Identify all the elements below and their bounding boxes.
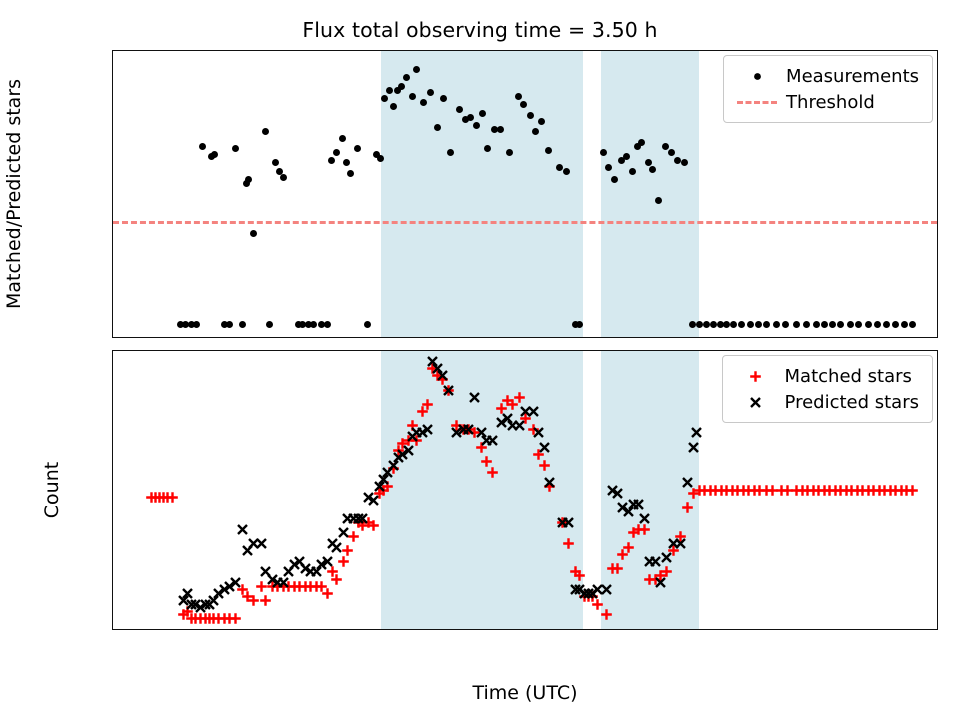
data-point-matched-stars xyxy=(622,541,635,554)
top-panel-axes: 0.000.250.500.751.001.25 MeasurementsThr… xyxy=(112,50,938,338)
data-point-measurements xyxy=(339,135,346,142)
x-tick-mark xyxy=(140,337,141,338)
y-tick-mark xyxy=(112,66,113,67)
data-point-matched-stars xyxy=(513,391,526,404)
x-tick-mark xyxy=(552,337,553,338)
y-tick-mark xyxy=(112,117,113,118)
data-point-measurements xyxy=(730,321,737,328)
data-point-measurements xyxy=(837,321,844,328)
top-legend-entry[interactable]: Measurements xyxy=(734,63,919,89)
data-point-predicted-stars xyxy=(356,512,369,525)
data-point-predicted-stars xyxy=(654,576,667,589)
data-point-predicted-stars xyxy=(562,516,575,529)
data-point-predicted-stars xyxy=(690,426,703,439)
data-point-measurements xyxy=(538,118,545,125)
x-tick-mark xyxy=(305,629,306,630)
data-point-matched-stars xyxy=(247,594,260,607)
x-tick-mark xyxy=(635,629,636,630)
data-point-measurements xyxy=(545,147,552,154)
data-point-measurements xyxy=(527,112,534,119)
data-point-measurements xyxy=(803,321,810,328)
data-point-predicted-stars xyxy=(402,444,415,457)
threshold-line xyxy=(113,221,937,224)
data-point-predicted-stars xyxy=(538,441,551,454)
data-point-predicted-stars xyxy=(632,498,645,511)
dot-icon xyxy=(734,70,780,83)
x-tick-mark xyxy=(635,337,636,338)
data-point-predicted-stars xyxy=(255,537,268,550)
data-point-measurements xyxy=(199,143,206,150)
x-tick-mark xyxy=(470,629,471,630)
data-point-measurements xyxy=(605,164,612,171)
data-point-predicted-stars xyxy=(330,541,343,554)
x-tick-mark xyxy=(552,629,553,630)
data-point-measurements xyxy=(324,321,331,328)
data-point-predicted-stars xyxy=(687,441,700,454)
data-point-matched-stars xyxy=(573,569,586,582)
data-point-measurements xyxy=(710,321,717,328)
data-point-measurements xyxy=(427,89,434,96)
top-legend-label: Threshold xyxy=(780,92,875,113)
data-point-measurements xyxy=(262,128,269,135)
data-point-predicted-stars xyxy=(486,434,499,447)
data-point-matched-stars xyxy=(600,608,613,621)
x-tick-mark xyxy=(388,629,389,630)
data-point-measurements xyxy=(354,145,361,152)
x-axis-label: Time (UTC) xyxy=(472,682,577,704)
data-point-measurements xyxy=(434,124,441,131)
data-point-predicted-stars xyxy=(527,405,540,418)
data-point-matched-stars xyxy=(166,491,179,504)
data-point-measurements xyxy=(467,114,474,121)
x-tick-mark xyxy=(882,337,883,338)
data-point-predicted-stars xyxy=(543,476,556,489)
data-point-measurements xyxy=(364,321,371,328)
data-point-matched-stars xyxy=(486,466,499,479)
data-point-measurements xyxy=(479,110,486,117)
data-point-matched-stars xyxy=(321,587,334,600)
data-point-measurements xyxy=(266,321,273,328)
dashed-line-icon xyxy=(734,101,780,104)
data-point-matched-stars xyxy=(611,562,624,575)
x-tick-mark xyxy=(140,629,141,630)
data-point-predicted-stars xyxy=(674,537,687,550)
x-tick-mark xyxy=(470,337,471,338)
data-point-predicted-stars xyxy=(660,551,673,564)
data-point-predicted-stars xyxy=(442,384,455,397)
data-point-measurements xyxy=(211,151,218,158)
x-tick-mark xyxy=(717,337,718,338)
x-tick-mark xyxy=(388,337,389,338)
data-point-predicted-stars xyxy=(468,391,481,404)
data-point-measurements xyxy=(347,170,354,177)
plus-icon xyxy=(733,370,779,383)
data-point-matched-stars xyxy=(681,501,694,514)
data-point-measurements xyxy=(662,143,669,150)
data-point-matched-stars xyxy=(421,398,434,411)
data-point-measurements xyxy=(497,126,504,133)
data-point-measurements xyxy=(829,321,836,328)
data-point-measurements xyxy=(250,230,257,237)
data-point-measurements xyxy=(456,106,463,113)
y-tick-mark xyxy=(112,547,113,548)
data-point-predicted-stars xyxy=(367,494,380,507)
y-tick-mark xyxy=(112,169,113,170)
data-point-matched-stars xyxy=(259,594,272,607)
cross-icon xyxy=(733,396,779,409)
bottom-panel-y-axis-label: Count xyxy=(41,462,63,518)
data-point-measurements xyxy=(901,321,908,328)
data-point-measurements xyxy=(847,321,854,328)
data-point-measurements xyxy=(611,176,618,183)
data-point-measurements xyxy=(755,321,762,328)
data-point-predicted-stars xyxy=(638,512,651,525)
data-point-measurements xyxy=(821,321,828,328)
figure-title: Flux total observing time = 3.50 h xyxy=(0,18,960,42)
data-point-measurements xyxy=(328,157,335,164)
data-point-predicted-stars xyxy=(321,555,334,568)
data-point-predicted-stars xyxy=(600,583,613,596)
data-point-measurements xyxy=(272,159,279,166)
data-point-measurements xyxy=(556,164,563,171)
y-tick-mark xyxy=(112,618,113,619)
data-point-measurements xyxy=(747,321,754,328)
bottom-legend-label: Matched stars xyxy=(779,366,912,387)
data-point-measurements xyxy=(793,321,800,328)
x-tick-mark xyxy=(223,337,224,338)
data-point-measurements xyxy=(333,149,340,156)
data-point-predicted-stars xyxy=(236,523,249,536)
top-legend-entry[interactable]: Threshold xyxy=(734,89,919,115)
top-panel-legend: MeasurementsThreshold xyxy=(723,55,933,123)
data-point-measurements xyxy=(703,321,710,328)
x-tick-mark xyxy=(305,337,306,338)
data-point-measurements xyxy=(226,321,233,328)
data-point-measurements xyxy=(855,321,862,328)
x-tick-mark xyxy=(800,337,801,338)
data-point-measurements xyxy=(638,139,645,146)
data-point-measurements xyxy=(892,321,899,328)
y-tick-mark xyxy=(112,273,113,274)
data-point-predicted-stars xyxy=(229,576,242,589)
data-point-measurements xyxy=(386,87,393,94)
data-point-matched-stars xyxy=(229,612,242,625)
data-point-measurements xyxy=(398,83,405,90)
data-point-measurements xyxy=(883,321,890,328)
data-point-measurements xyxy=(738,321,745,328)
x-tick-mark xyxy=(223,629,224,630)
data-point-measurements xyxy=(874,321,881,328)
data-point-measurements xyxy=(515,93,522,100)
data-point-predicted-stars xyxy=(462,423,475,436)
y-tick-mark xyxy=(112,476,113,477)
shaded-observation-band-2 xyxy=(601,51,700,337)
data-point-measurements xyxy=(865,321,872,328)
data-point-measurements xyxy=(245,176,252,183)
data-point-measurements xyxy=(600,149,607,156)
data-point-measurements xyxy=(909,321,916,328)
data-point-measurements xyxy=(813,321,820,328)
data-point-predicted-stars xyxy=(513,419,526,432)
data-point-matched-stars xyxy=(538,459,551,472)
data-point-matched-stars xyxy=(906,484,919,497)
data-point-measurements xyxy=(193,321,200,328)
bottom-legend-entry[interactable]: Matched stars xyxy=(733,363,919,389)
data-point-measurements xyxy=(773,321,780,328)
data-point-predicted-stars xyxy=(337,526,350,539)
data-point-predicted-stars xyxy=(611,487,624,500)
bottom-legend-entry[interactable]: Predicted stars xyxy=(733,389,919,415)
data-point-measurements xyxy=(343,159,350,166)
data-point-measurements xyxy=(310,321,317,328)
data-point-measurements xyxy=(782,321,789,328)
data-point-measurements xyxy=(409,93,416,100)
bottom-panel-legend: Matched starsPredicted stars xyxy=(722,355,933,423)
y-tick-mark xyxy=(112,221,113,222)
x-tick-mark xyxy=(800,629,801,630)
data-point-measurements xyxy=(563,168,570,175)
data-point-measurements xyxy=(280,174,287,181)
bottom-panel-axes: 2040608019:0020:0021:0022:0023:0000:0001… xyxy=(112,350,938,630)
bottom-legend-label: Predicted stars xyxy=(779,392,919,413)
data-point-predicted-stars xyxy=(532,426,545,439)
data-point-matched-stars xyxy=(562,537,575,550)
figure-container: Flux total observing time = 3.50 h Match… xyxy=(0,0,960,720)
y-tick-mark xyxy=(112,404,113,405)
data-point-measurements xyxy=(655,197,662,204)
data-point-measurements xyxy=(232,145,239,152)
data-point-predicted-stars xyxy=(421,423,434,436)
data-point-measurements xyxy=(696,321,703,328)
x-tick-mark xyxy=(717,629,718,630)
y-tick-mark xyxy=(112,325,113,326)
x-tick-mark xyxy=(882,629,883,630)
data-point-measurements xyxy=(629,168,636,175)
data-point-predicted-stars xyxy=(436,369,449,382)
data-point-predicted-stars xyxy=(681,476,694,489)
data-point-measurements xyxy=(763,321,770,328)
top-panel-y-axis-label: Matched/Predicted stars xyxy=(3,79,25,309)
top-legend-label: Measurements xyxy=(780,66,919,87)
data-point-measurements xyxy=(649,166,656,173)
data-point-measurements xyxy=(239,321,246,328)
data-point-matched-stars xyxy=(330,573,343,586)
